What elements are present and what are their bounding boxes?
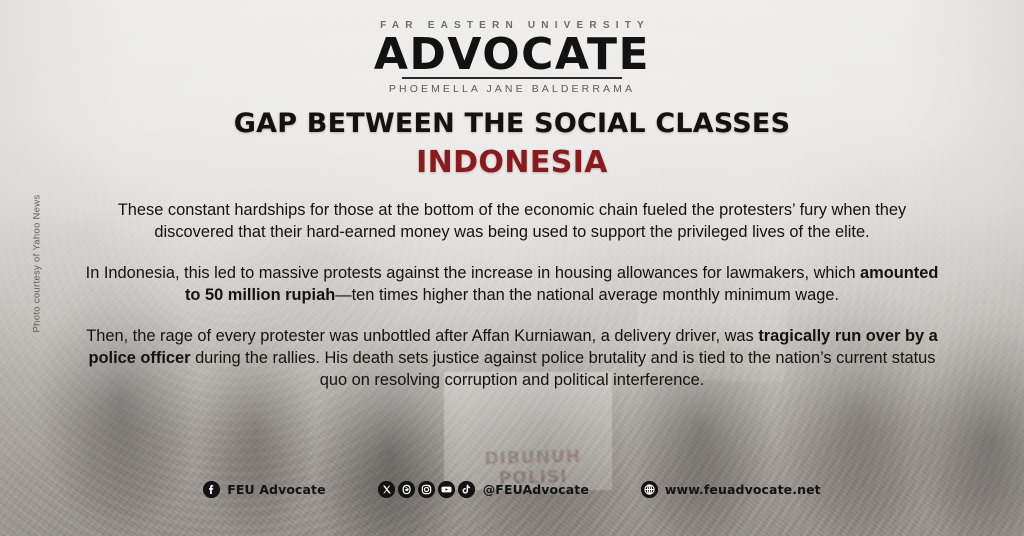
footer-facebook-group[interactable]: FEU Advocate bbox=[203, 481, 325, 498]
paragraph-2-text-b: —ten times higher than the national aver… bbox=[335, 286, 839, 304]
photo-credit: Photo courtesy of Yahoo News bbox=[32, 184, 43, 344]
masthead-byline: PHOEMELLA JANE BALDERRAMA bbox=[0, 83, 1024, 95]
instagram-icon[interactable] bbox=[418, 481, 435, 498]
x-twitter-icon[interactable] bbox=[378, 481, 395, 498]
masthead: FAR EASTERN UNIVERSITY ADVOCATE PHOEMELL… bbox=[0, 20, 1024, 95]
tiktok-icon[interactable] bbox=[458, 481, 475, 498]
footer-social-icon-row[interactable] bbox=[378, 481, 475, 498]
paragraph-1-text: These constant hardships for those at th… bbox=[118, 201, 906, 241]
globe-icon[interactable] bbox=[641, 481, 658, 498]
paragraph-3-text-a: Then, the rage of every protester was un… bbox=[86, 327, 758, 345]
page-title: GAP BETWEEN THE SOCIAL CLASSES bbox=[0, 108, 1024, 139]
footer-social-bar: FEU Advocate bbox=[0, 481, 1024, 498]
article-body: These constant hardships for those at th… bbox=[82, 200, 942, 392]
headline-block: GAP BETWEEN THE SOCIAL CLASSES INDONESIA bbox=[0, 108, 1024, 180]
footer-social-handles-group[interactable]: @FEUAdvocate bbox=[378, 481, 589, 498]
paragraph-3-text-b: during the rallies. His death sets justi… bbox=[191, 349, 936, 389]
footer-social-handle: @FEUAdvocate bbox=[483, 482, 589, 497]
footer-website-group[interactable]: www.feuadvocate.net bbox=[641, 481, 821, 498]
threads-icon[interactable] bbox=[398, 481, 415, 498]
paragraph-3: Then, the rage of every protester was un… bbox=[82, 326, 942, 392]
masthead-wordmark: ADVOCATE bbox=[0, 33, 1024, 76]
page-subtitle-country: INDONESIA bbox=[0, 145, 1024, 180]
paragraph-2-text-a: In Indonesia, this led to massive protes… bbox=[86, 264, 860, 282]
footer-website-label: www.feuadvocate.net bbox=[665, 482, 821, 497]
paragraph-1: These constant hardships for those at th… bbox=[82, 200, 942, 244]
youtube-icon[interactable] bbox=[438, 481, 455, 498]
footer-facebook-label: FEU Advocate bbox=[227, 482, 325, 497]
poster-graphic: AFFAN KURNIAWAN DIBUNUH POLISI FAR EASTE… bbox=[0, 0, 1024, 536]
paragraph-2: In Indonesia, this led to massive protes… bbox=[82, 263, 942, 307]
facebook-icon[interactable] bbox=[203, 481, 220, 498]
